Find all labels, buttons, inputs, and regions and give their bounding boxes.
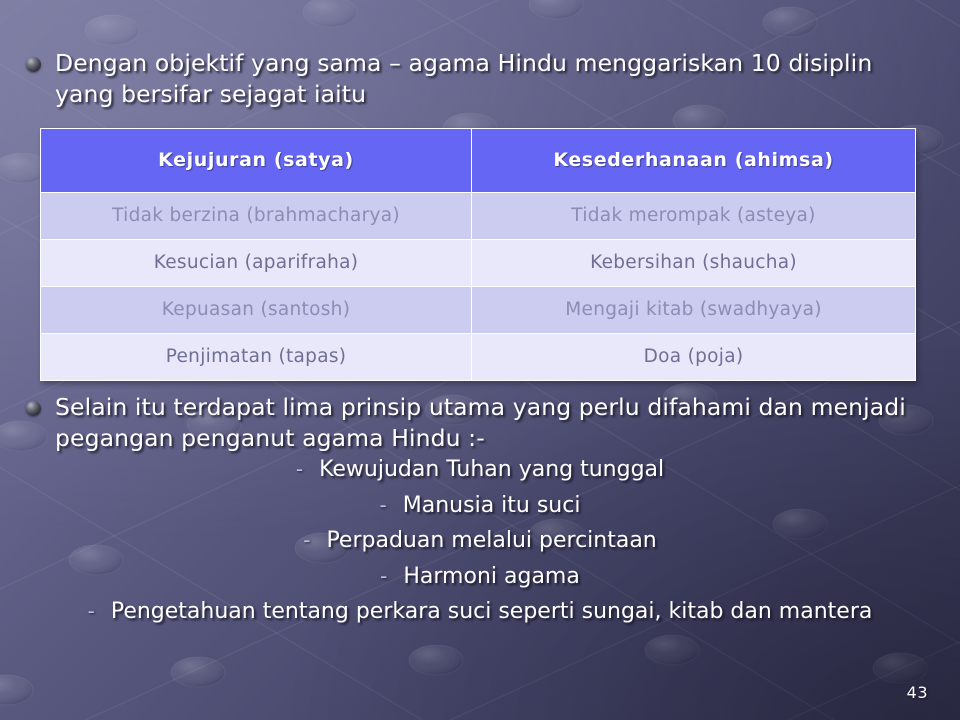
table-header-cell-1: Kejujuran (satya)	[41, 129, 472, 193]
table-cell: Mengaji kitab (swadhyaya)	[472, 287, 916, 334]
list-item-label: Kewujudan Tuhan yang tunggal	[319, 456, 664, 485]
dash-marker-icon: -	[88, 598, 95, 624]
table-row: Kepuasan (santosh) Mengaji kitab (swadhy…	[41, 287, 916, 334]
table-cell: Tidak berzina (brahmacharya)	[41, 193, 472, 240]
discipline-table: Kejujuran (satya) Kesederhanaan (ahimsa)…	[40, 128, 916, 381]
headline-text-2: Selain itu terdapat lima prinsip utama y…	[55, 392, 916, 455]
slide-content: Dengan objektif yang sama – agama Hindu …	[0, 0, 960, 720]
slide-canvas: Dengan objektif yang sama – agama Hindu …	[0, 0, 960, 720]
list-item-label: Perpaduan melalui percintaan	[326, 527, 656, 556]
list-item: - Pengetahuan tentang perkara suci seper…	[0, 598, 960, 627]
bullet-paragraph-2: Selain itu terdapat lima prinsip utama y…	[26, 392, 916, 455]
table-row: Penjimatan (tapas) Doa (poja)	[41, 334, 916, 381]
table-row: Kesucian (aparifraha) Kebersihan (shauch…	[41, 240, 916, 287]
list-item: - Harmoni agama	[0, 563, 960, 592]
list-item-label: Harmoni agama	[403, 563, 579, 592]
headline-text-1: Dengan objektif yang sama – agama Hindu …	[55, 48, 916, 111]
table-cell: Kepuasan (santosh)	[41, 287, 472, 334]
dash-marker-icon: -	[380, 563, 387, 589]
dash-marker-icon: -	[380, 492, 387, 518]
principles-list: - Kewujudan Tuhan yang tunggal - Manusia…	[0, 456, 960, 634]
table-cell: Doa (poja)	[472, 334, 916, 381]
bullet-paragraph-1: Dengan objektif yang sama – agama Hindu …	[26, 48, 916, 111]
list-item: - Kewujudan Tuhan yang tunggal	[0, 456, 960, 485]
list-item-label: Pengetahuan tentang perkara suci seperti…	[111, 598, 873, 627]
table-cell: Kesucian (aparifraha)	[41, 240, 472, 287]
page-number: 43	[907, 683, 928, 702]
table-header-cell-2: Kesederhanaan (ahimsa)	[472, 129, 916, 193]
list-item: - Perpaduan melalui percintaan	[0, 527, 960, 556]
dash-marker-icon: -	[296, 456, 303, 482]
list-item: - Manusia itu suci	[0, 492, 960, 521]
table-cell: Penjimatan (tapas)	[41, 334, 472, 381]
sphere-bullet-icon	[26, 57, 41, 72]
table-row: Tidak berzina (brahmacharya) Tidak merom…	[41, 193, 916, 240]
list-item-label: Manusia itu suci	[403, 492, 581, 521]
dash-marker-icon: -	[303, 527, 310, 553]
table-header-row: Kejujuran (satya) Kesederhanaan (ahimsa)	[41, 129, 916, 193]
table-cell: Tidak merompak (asteya)	[472, 193, 916, 240]
table-cell: Kebersihan (shaucha)	[472, 240, 916, 287]
sphere-bullet-icon	[26, 401, 41, 416]
